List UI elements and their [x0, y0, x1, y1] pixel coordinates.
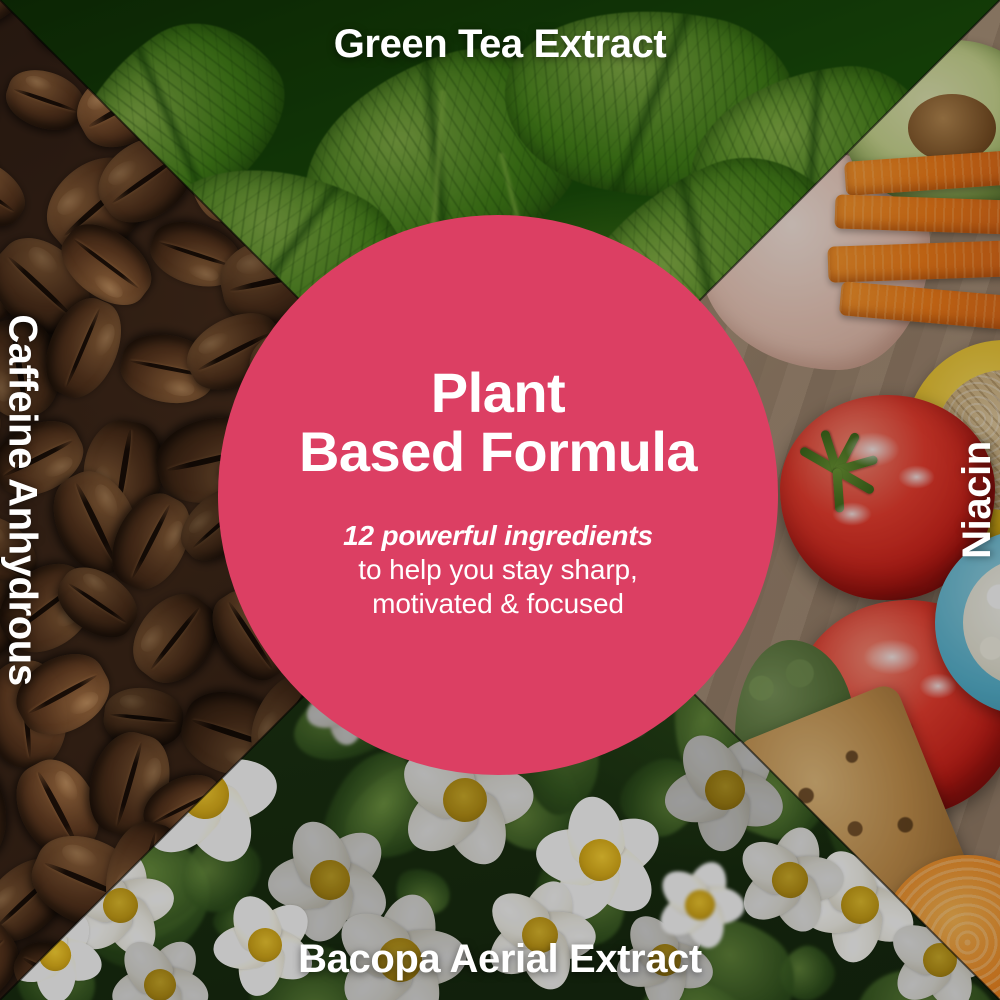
badge-subtitle-body: to help you stay sharp, motivated & focu…: [358, 553, 637, 621]
headline-line-2: Based Formula: [299, 422, 697, 481]
badge-subtitle-lead: 12 powerful ingredients: [343, 520, 653, 551]
label-niacin: Niacin: [956, 441, 1000, 559]
highlight: [863, 639, 922, 676]
badge-headline: Plant Based Formula: [299, 363, 697, 482]
label-caffeine-anhydrous: Caffeine Anhydrous: [0, 314, 45, 685]
coffee-bean: [0, 752, 14, 871]
coffee-bean: [117, 580, 231, 697]
plant-based-formula-badge: Plant Based Formula 12 powerful ingredie…: [218, 215, 778, 775]
badge-subtitle-line-3: motivated & focused: [358, 587, 637, 621]
highlight: [832, 502, 873, 527]
label-green-tea-extract: Green Tea Extract: [0, 22, 1000, 67]
highlight: [845, 432, 901, 467]
highlight: [898, 465, 935, 490]
label-bacopa-aerial-extract: Bacopa Aerial Extract: [0, 937, 1000, 982]
coffee-bean: [0, 146, 35, 238]
headline-line-1: Plant: [431, 361, 565, 424]
carrot-stick: [827, 239, 1000, 282]
nuts: [963, 558, 1000, 688]
badge-subtitle-line-2: to help you stay sharp,: [358, 553, 637, 587]
highlight: [919, 673, 957, 699]
ingredient-collage: Plant Based Formula 12 powerful ingredie…: [0, 0, 1000, 1000]
